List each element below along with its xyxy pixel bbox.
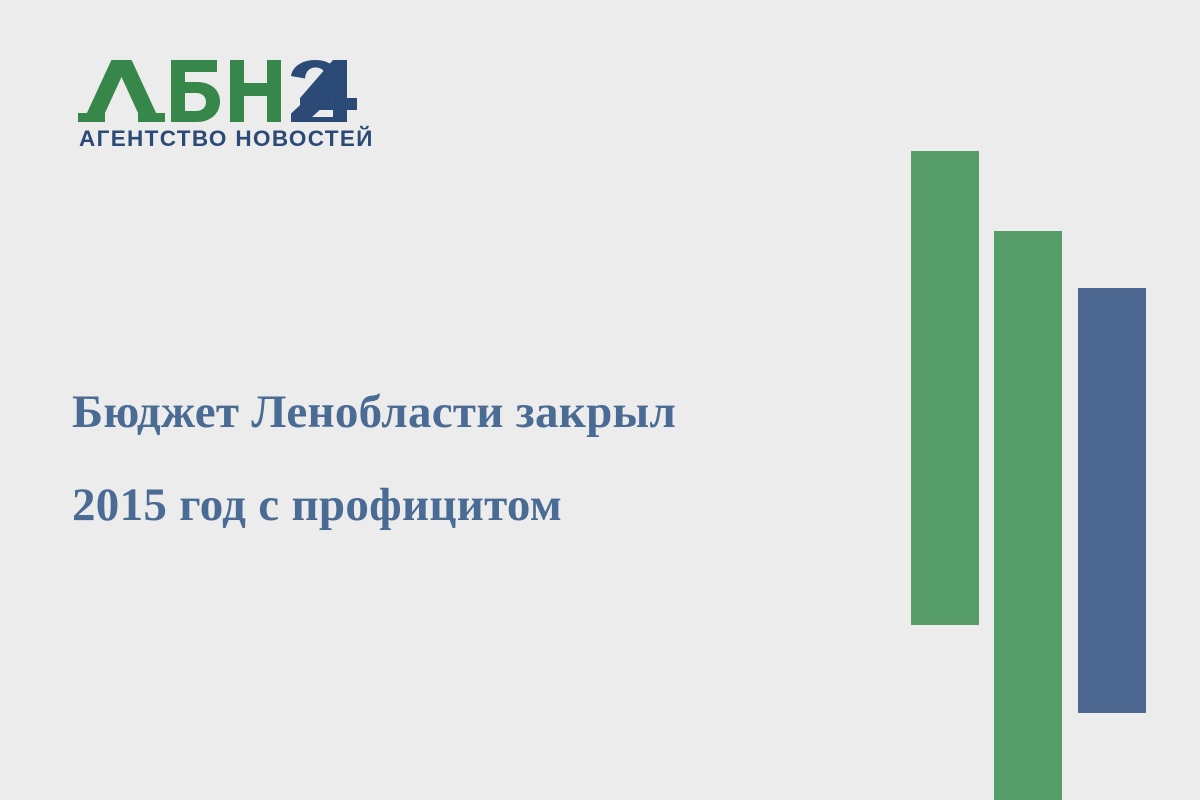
headline-line-1: Бюджет Ленобласти закрыл xyxy=(72,366,872,459)
headline-line-2: 2015 год с профицитом xyxy=(72,459,872,552)
page-title: Бюджет Ленобласти закрыл 2015 год с проф… xyxy=(72,366,872,552)
logo-tagline: АГЕНТСТВО НОВОСТЕЙ xyxy=(79,128,368,151)
abn24-logo: АГЕНТСТВО НОВОСТЕЙ xyxy=(78,60,368,151)
bar-green-medium xyxy=(994,231,1062,800)
news-card: АГЕНТСТВО НОВОСТЕЙ Бюджет Ленобласти зак… xyxy=(0,0,1200,800)
logo-wordmark-icon xyxy=(78,60,360,122)
bar-blue-short xyxy=(1078,288,1146,713)
bar-green-tall xyxy=(911,151,979,625)
